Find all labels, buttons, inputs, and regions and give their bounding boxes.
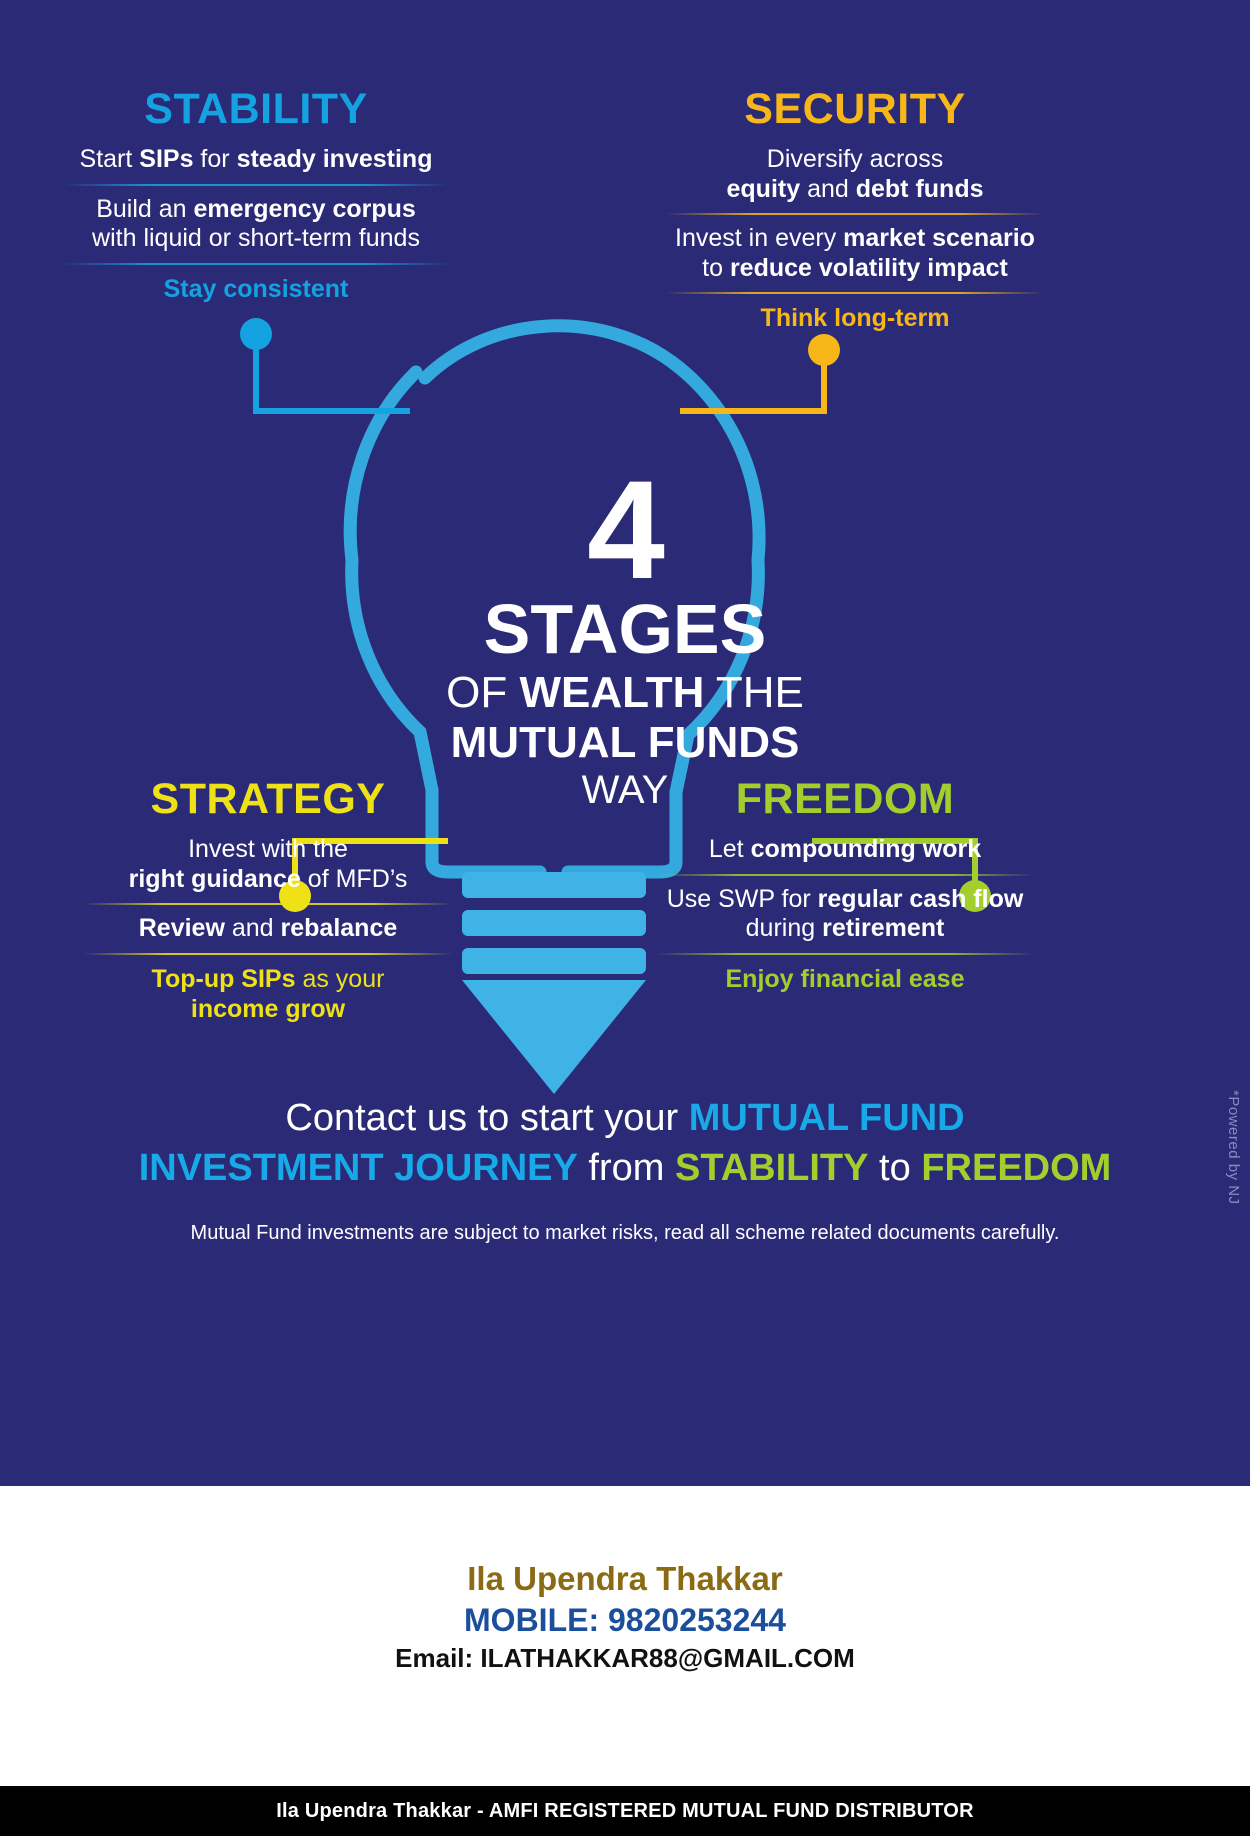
footer-text: Ila Upendra Thakkar - AMFI REGISTERED MU…	[276, 1800, 973, 1823]
strategy-title: STRATEGY	[58, 778, 478, 821]
strategy-accent-plain: as your	[296, 965, 385, 993]
stability-separator-2	[62, 263, 449, 265]
powered-by-label: *Powered by NJ	[1225, 1090, 1242, 1205]
strategy-accent: Top-up SIPs as yourincome grow	[58, 964, 478, 1024]
quadrant-freedom: FREEDOM Let compounding work Use SWP for…	[630, 778, 1060, 994]
call-to-action: Contact us to start your MUTUAL FUNDINVE…	[90, 1093, 1160, 1193]
contact-block: Ila Upendra Thakkar MOBILE: 9820253244 E…	[0, 1486, 1250, 1786]
contact-email[interactable]: Email: ILATHAKKAR88@GMAIL.COM	[0, 1643, 1250, 1674]
cta-highlight-stability: STABILITY	[675, 1147, 869, 1189]
cta-highlight-mutual-fund: MUTUAL FUND	[689, 1097, 965, 1139]
strategy-separator-2	[83, 953, 453, 955]
security-accent: Think long-term	[640, 303, 1070, 333]
disclaimer-text: Mutual Fund investments are subject to m…	[75, 1222, 1175, 1245]
security-b2-plain2: to	[702, 254, 730, 282]
cta-highlight-investment-journey: INVESTMENT JOURNEY	[139, 1147, 578, 1189]
security-title: SECURITY	[640, 88, 1070, 131]
security-b1-bold2: debt funds	[856, 175, 984, 203]
stability-b2-bold1: emergency corpus	[193, 195, 415, 223]
footer-bar: Ila Upendra Thakkar - AMFI REGISTERED MU…	[0, 1786, 1250, 1836]
security-separator-2	[666, 292, 1044, 294]
stability-b1-bold2: steady investing	[237, 145, 433, 173]
security-b2-bold1: market scenario	[843, 224, 1035, 252]
quadrant-strategy: STRATEGY Invest with theright guidance o…	[58, 778, 478, 1024]
strategy-block-1: Invest with theright guidance of MFD’s	[58, 835, 478, 894]
bulb-arrow-tip	[462, 980, 646, 1094]
cta-part3: to	[869, 1147, 922, 1189]
cta-part2: from	[578, 1147, 675, 1189]
infographic-poster: 4 STAGES OF WEALTH THE MUTUAL FUNDS WAY …	[0, 0, 1250, 1836]
freedom-accent: Enjoy financial ease	[630, 964, 1060, 994]
freedom-b2-plain2: during	[746, 914, 822, 942]
freedom-b2-bold1: regular cash flow	[818, 885, 1024, 913]
security-b1-plain1: Diversify across	[767, 145, 943, 173]
dot-stability	[240, 318, 272, 350]
strategy-block-2: Review and rebalance	[58, 914, 478, 944]
bulb-base-bar-3	[462, 948, 646, 974]
freedom-b1-plain1: Let	[709, 835, 751, 863]
center-headline: 4 STAGES OF WEALTH THE MUTUAL FUNDS WAY	[365, 470, 885, 813]
dot-security	[808, 334, 840, 366]
stability-title: STABILITY	[36, 88, 476, 131]
strategy-b2-bold2: rebalance	[281, 914, 398, 942]
security-block-2: Invest in every market scenarioto reduce…	[640, 224, 1070, 283]
strategy-b1-plain1: Invest with the	[188, 835, 348, 863]
cta-highlight-freedom: FREEDOM	[921, 1147, 1111, 1189]
stability-b2-line2: with liquid or short-term funds	[92, 224, 420, 252]
bulb-base-bar-1	[462, 872, 646, 898]
freedom-b1-bold1: compounding work	[751, 835, 982, 863]
freedom-block-2: Use SWP for regular cash flowduring reti…	[630, 885, 1060, 944]
stability-separator-1	[62, 184, 449, 186]
stability-b2-plain1: Build an	[96, 195, 193, 223]
headline-the: THE	[704, 668, 803, 717]
security-block-1: Diversify acrossequity and debt funds	[640, 145, 1070, 204]
stability-accent: Stay consistent	[36, 274, 476, 304]
freedom-separator-1	[656, 874, 1034, 876]
headline-of-wealth-the: OF WEALTH THE	[365, 668, 885, 717]
strategy-b2-bold1: Review	[139, 914, 225, 942]
freedom-b2-bold2: retirement	[822, 914, 944, 942]
stability-b1-plain2: for	[193, 145, 236, 173]
freedom-separator-2	[656, 953, 1034, 955]
headline-number: 4	[365, 470, 885, 590]
strategy-accent-bold: Top-up SIPs	[152, 965, 296, 993]
bulb-base-bar-2	[462, 910, 646, 936]
security-b2-bold2: reduce volatility impact	[730, 254, 1008, 282]
cta-part1: Contact us to start your	[285, 1097, 688, 1139]
security-b1-plain2: and	[800, 175, 856, 203]
stability-b1-plain1: Start	[80, 145, 140, 173]
headline-mutual-funds: MUTUAL FUNDS	[365, 718, 885, 767]
security-separator-1	[666, 213, 1044, 215]
strategy-b1-bold1: right guidance	[129, 865, 301, 893]
freedom-b2-plain1: Use SWP for	[667, 885, 818, 913]
quadrant-security: SECURITY Diversify acrossequity and debt…	[640, 88, 1070, 333]
stability-block-2: Build an emergency corpuswith liquid or …	[36, 195, 476, 254]
strategy-separator-1	[83, 903, 453, 905]
security-b2-plain1: Invest in every	[675, 224, 843, 252]
strategy-b1-plain2: of MFD’s	[301, 865, 408, 893]
strategy-accent-line2: income grow	[191, 995, 345, 1023]
strategy-b2-plain1: and	[225, 914, 281, 942]
freedom-block-1: Let compounding work	[630, 835, 1060, 865]
quadrant-stability: STABILITY Start SIPs for steady investin…	[36, 88, 476, 304]
contact-name: Ila Upendra Thakkar	[0, 1560, 1250, 1598]
contact-mobile[interactable]: MOBILE: 9820253244	[0, 1602, 1250, 1639]
stability-block-1: Start SIPs for steady investing	[36, 145, 476, 175]
freedom-title: FREEDOM	[630, 778, 1060, 821]
headline-stages: STAGES	[365, 594, 885, 664]
security-b1-bold1: equity	[727, 175, 801, 203]
headline-wealth: WEALTH	[519, 668, 704, 717]
headline-of: OF	[446, 668, 519, 717]
bulb-dome-arc	[425, 326, 672, 378]
stability-b1-bold1: SIPs	[139, 145, 193, 173]
